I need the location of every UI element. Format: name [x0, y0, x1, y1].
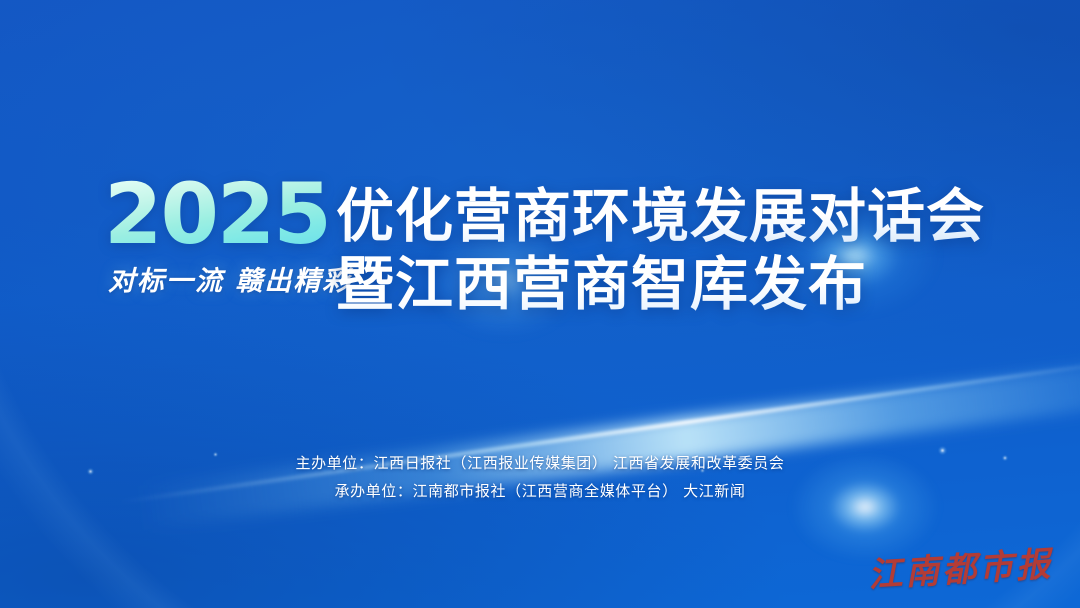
poster-content: 2025 对标一流 赣出精彩 优化营商环境发展对话会 暨江西营商智库发布 主办单…: [0, 0, 1080, 608]
poster-canvas: 2025 对标一流 赣出精彩 优化营商环境发展对话会 暨江西营商智库发布 主办单…: [0, 0, 1080, 608]
title-line-2: 暨江西营商智库发布: [336, 250, 1016, 318]
year-and-slogan-block: 2025 对标一流 赣出精彩: [104, 176, 336, 298]
brand-logo-jiangnan-city-news: 江南都市报: [867, 536, 1055, 596]
co-organizer-line: 承办单位：江南都市报社（江西营商全媒体平台） 大江新闻: [0, 478, 1080, 506]
credits-block: 主办单位：江西日报社（江西报业传媒集团） 江西省发展和改革委员会 承办单位：江南…: [0, 450, 1080, 506]
title-line-1: 优化营商环境发展对话会: [336, 182, 1016, 250]
slogan-text: 对标一流 赣出精彩: [108, 259, 336, 298]
year-2025: 2025: [104, 176, 336, 253]
main-title-block: 优化营商环境发展对话会 暨江西营商智库发布: [336, 182, 1016, 319]
organizer-line: 主办单位：江西日报社（江西报业传媒集团） 江西省发展和改革委员会: [0, 450, 1080, 478]
